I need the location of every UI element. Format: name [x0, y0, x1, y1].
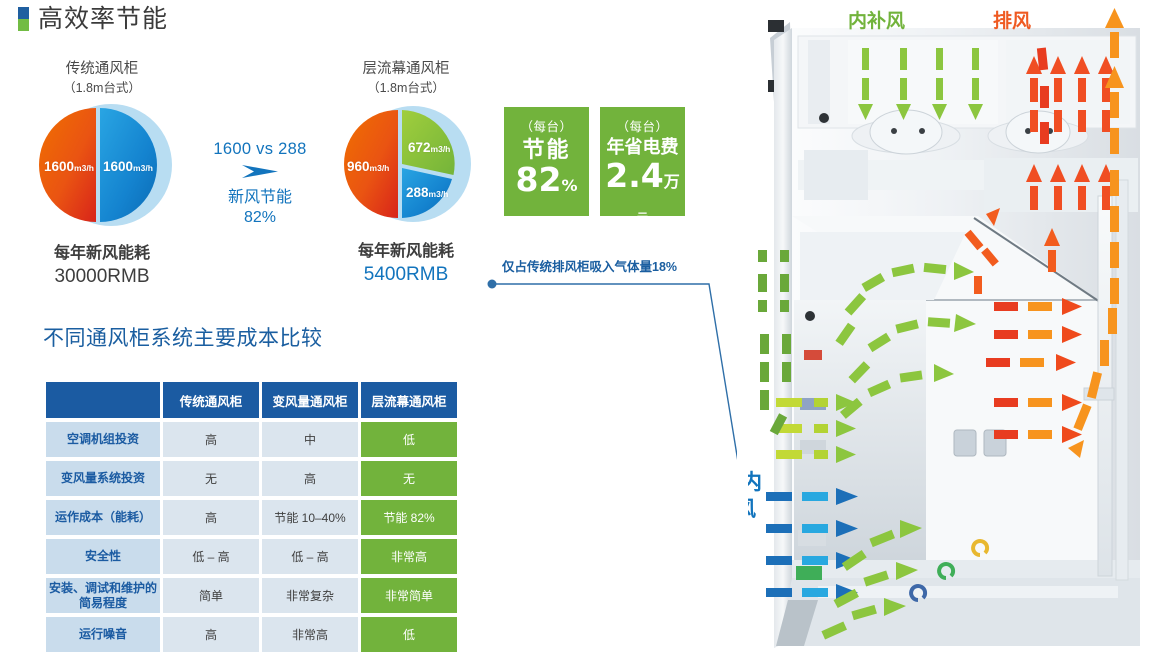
badge-1-sub: （每台） — [504, 116, 589, 135]
table-cell: 简单 — [163, 578, 259, 613]
left-pie-footer: 每年新风能耗 30000RMB — [32, 244, 172, 289]
left-pie-subtitle: （1.8m台式） — [32, 80, 172, 97]
table-row-label: 运行噪音 — [46, 617, 160, 652]
table-cell: 非常高 — [262, 617, 358, 652]
table-row: 安装、调试和维护的简易程度 简单 非常复杂 非常简单 — [46, 578, 457, 613]
label-room-air-line2: 新风 — [748, 497, 756, 523]
left-pie-block: 传统通风柜 （1.8m台式） — [32, 60, 172, 290]
table-cell-highlight: 非常高 — [361, 539, 457, 574]
badge-energy-saving: （每台） 节能 82% — [504, 107, 589, 216]
table-col-header-2: 变风量通风柜 — [262, 382, 358, 418]
table-row: 变风量系统投资 无 高 无 — [46, 461, 457, 496]
left-pie-chart: 1600m3/h 1600m3/h — [32, 104, 172, 226]
comparison-ratio: 1600 vs 288 — [196, 140, 324, 159]
right-pie-title: 层流幕通风柜 — [335, 60, 477, 80]
right-pie-label-blue: 288m3/h — [406, 184, 448, 202]
right-pie-footer: 每年新风能耗 5400RMB — [335, 242, 477, 287]
table-row: 运行噪音 高 非常高 低 — [46, 617, 457, 652]
table-cell: 高 — [163, 617, 259, 652]
cost-comparison-table: 传统通风柜 变风量通风柜 层流幕通风柜 空调机组投资 高 中 低 变风量系统投资… — [43, 378, 460, 656]
table-cell: 中 — [262, 422, 358, 457]
table-cell-highlight: 节能 82% — [361, 500, 457, 535]
table-cell-highlight: 低 — [361, 617, 457, 652]
badge-1-value: 82% — [504, 163, 589, 198]
table-cell: 高 — [262, 461, 358, 496]
left-pie-title: 传统通风柜 — [32, 60, 172, 80]
table-col-header-0 — [46, 382, 160, 418]
callout-annotation: 仅占传统排风柜吸入气体量18% — [487, 256, 737, 496]
label-exhaust-air: 排风 — [993, 6, 1031, 33]
badge-2-sub: （每台） — [600, 116, 685, 135]
table-row: 运作成本（能耗） 高 节能 10–40% 节能 82% — [46, 500, 457, 535]
title-bullet-icon — [18, 7, 29, 31]
table-cell: 无 — [163, 461, 259, 496]
right-pie-heading: 层流幕通风柜 （1.8m台式） — [335, 60, 477, 96]
table-cell-highlight: 非常简单 — [361, 578, 457, 613]
callout-leader-line — [487, 274, 737, 514]
badge-annual-savings: （每台） 年省电费 2.4万元 — [600, 107, 685, 216]
table-header-row: 传统通风柜 变风量通风柜 层流幕通风柜 — [46, 382, 457, 418]
badge-2-value: 2.4万元 — [600, 159, 685, 228]
left-pie-heading: 传统通风柜 （1.8m台式） — [32, 60, 172, 96]
table-cell: 低 – 高 — [163, 539, 259, 574]
comparison-block: 1600 vs 288 新风节能 82% — [196, 140, 324, 228]
table-cell: 节能 10–40% — [262, 500, 358, 535]
table-cell: 高 — [163, 422, 259, 457]
comparison-value: 82% — [196, 208, 324, 228]
table-row-label: 安全性 — [46, 539, 160, 574]
badge-1-mid: 节能 — [504, 138, 589, 162]
page-title-text: 高效率节能 — [38, 6, 168, 32]
right-pie-chart: 960m3/h 672m3/h 288m3/h — [335, 104, 477, 224]
table-cell: 高 — [163, 500, 259, 535]
table-col-header-3: 层流幕通风柜 — [361, 382, 457, 418]
right-pie-foot-label: 每年新风能耗 — [335, 242, 477, 263]
label-inner-supply-air: 内补风 — [848, 6, 905, 33]
page-title: 高效率节能 — [18, 6, 168, 32]
left-pie-label-orange: 1600m3/h — [44, 158, 94, 176]
table-row-label: 空调机组投资 — [46, 422, 160, 457]
table-cell-highlight: 低 — [361, 422, 457, 457]
table-row-label: 运作成本（能耗） — [46, 500, 160, 535]
left-pie-foot-label: 每年新风能耗 — [32, 244, 172, 265]
fume-hood-svg — [748, 0, 1149, 660]
table-row-label: 变风量系统投资 — [46, 461, 160, 496]
fume-hood-illustration: 内补风 排风 室内 新风 — [748, 0, 1149, 660]
right-pie-label-orange: 960m3/h — [347, 158, 389, 176]
right-pie-foot-value: 5400RMB — [335, 263, 477, 288]
callout-text: 仅占传统排风柜吸入气体量18% — [502, 256, 677, 275]
table-col-header-1: 传统通风柜 — [163, 382, 259, 418]
callout-dot-icon — [488, 280, 497, 289]
table-title: 不同通风柜系统主要成本比较 — [43, 322, 323, 352]
infographic-root: 高效率节能 传统通风柜 （1.8m台式） — [0, 0, 1149, 660]
right-pie-subtitle: （1.8m台式） — [335, 80, 477, 97]
right-pie-label-green: 672m3/h — [408, 139, 450, 157]
right-pie-block: 层流幕通风柜 （1.8m台式） 960m3/h 672m3/h 288m3/h — [335, 60, 477, 288]
table-row: 空调机组投资 高 中 低 — [46, 422, 457, 457]
table-row-label: 安装、调试和维护的简易程度 — [46, 578, 160, 613]
table-row: 安全性 低 – 高 低 – 高 非常高 — [46, 539, 457, 574]
comparison-label: 新风节能 — [196, 188, 324, 208]
table-cell: 低 – 高 — [262, 539, 358, 574]
table-cell: 非常复杂 — [262, 578, 358, 613]
left-pie-foot-value: 30000RMB — [32, 265, 172, 290]
table-cell-highlight: 无 — [361, 461, 457, 496]
left-pie-label-blue: 1600m3/h — [103, 158, 153, 176]
right-arrow-icon — [240, 163, 280, 180]
label-room-air-line1: 室内 — [748, 470, 762, 496]
